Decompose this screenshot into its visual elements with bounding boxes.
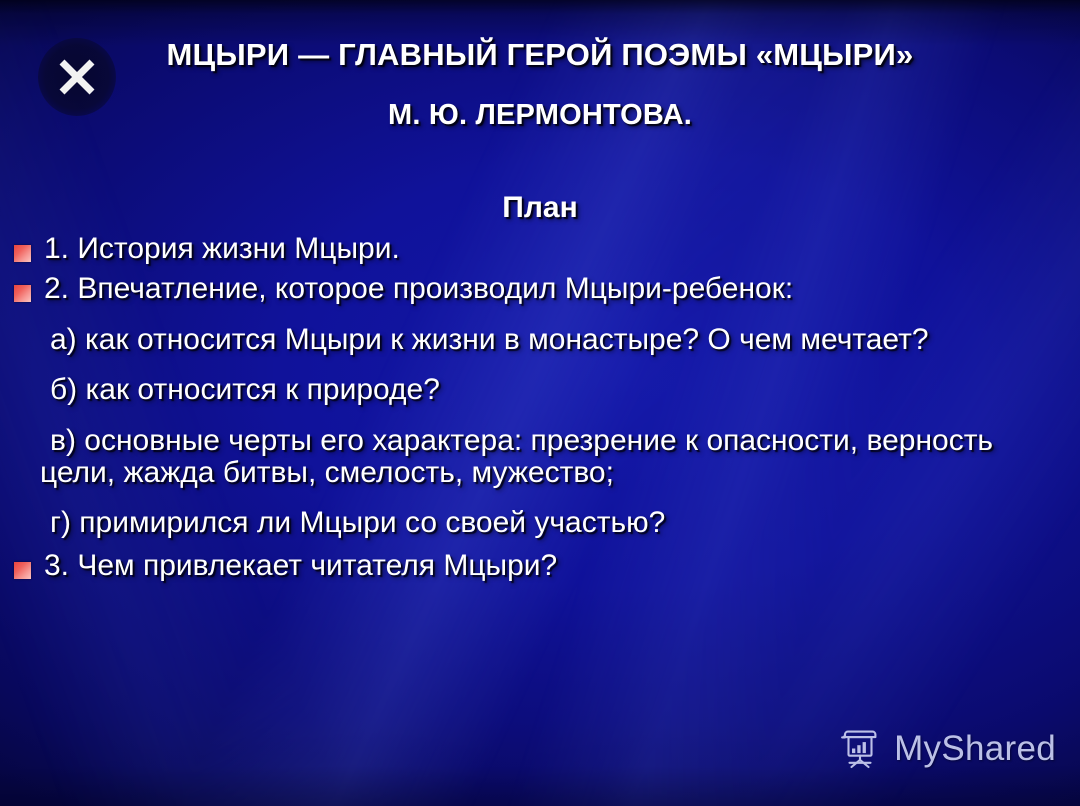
slide-content: МЦЫРИ — ГЛАВНЫЙ ГЕРОЙ ПОЭМЫ «МЦЫРИ» М. Ю… <box>0 0 1080 806</box>
list-item: 2. Впечатление, которое производил Мцыри… <box>0 273 1080 305</box>
square-bullet-icon <box>14 285 31 302</box>
list-item: а) как относится Мцыри к жизни в монасты… <box>0 324 1080 356</box>
list-item-text: 3. Чем привлекает читателя Мцыри? <box>44 549 557 582</box>
list-item: 1. История жизни Мцыри. <box>0 233 1080 265</box>
list-item: г) примирился ли Мцыри со своей участью? <box>0 507 1080 539</box>
list-item-text: 1. История жизни Мцыри. <box>44 232 400 265</box>
slide-title-block: МЦЫРИ — ГЛАВНЫЙ ГЕРОЙ ПОЭМЫ «МЦЫРИ» М. Ю… <box>0 36 1080 133</box>
list-item: 3. Чем привлекает читателя Мцыри? <box>0 550 1080 582</box>
slide-title-line-2: М. Ю. ЛЕРМОНТОВА. <box>0 97 1080 133</box>
close-x-icon <box>38 38 116 116</box>
presentation-chart-icon <box>838 726 884 772</box>
close-button[interactable] <box>38 38 116 116</box>
myshared-watermark: MyShared <box>838 726 1056 772</box>
presentation-slide: МЦЫРИ — ГЛАВНЫЙ ГЕРОЙ ПОЭМЫ «МЦЫРИ» М. Ю… <box>0 0 1080 806</box>
square-bullet-icon <box>14 562 31 579</box>
list-item: б) как относится к природе? <box>0 374 1080 406</box>
list-item: в) основные черты его характера: презрен… <box>0 425 1080 490</box>
slide-title-line-1: МЦЫРИ — ГЛАВНЫЙ ГЕРОЙ ПОЭМЫ «МЦЫРИ» <box>0 36 1080 75</box>
list-item-text: г) примирился ли Мцыри со своей участью? <box>50 506 665 539</box>
plan-list: 1. История жизни Мцыри. 2. Впечатление, … <box>0 233 1080 590</box>
list-item-text: а) как относится Мцыри к жизни в монасты… <box>50 323 929 356</box>
square-bullet-icon <box>14 245 31 262</box>
plan-heading: План <box>0 191 1080 225</box>
list-item-text: 2. Впечатление, которое производил Мцыри… <box>44 272 793 305</box>
list-item-text: в) основные черты его характера: презрен… <box>40 424 993 489</box>
watermark-text: MyShared <box>894 729 1056 769</box>
list-item-text: б) как относится к природе? <box>50 373 440 406</box>
